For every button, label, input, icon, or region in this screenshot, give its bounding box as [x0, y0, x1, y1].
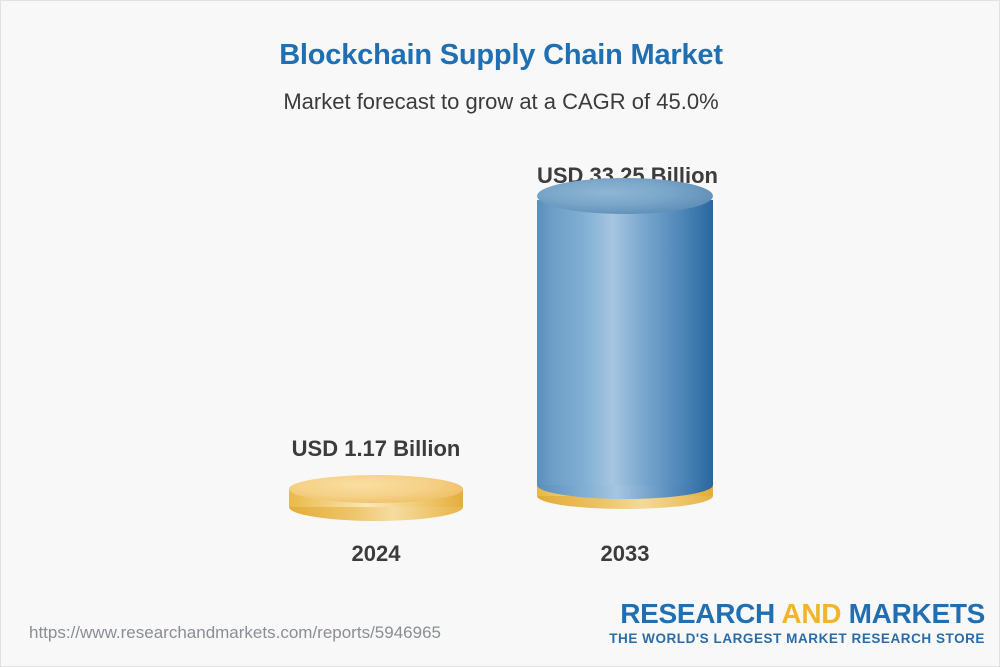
logo-word-markets: MARKETS — [849, 598, 985, 629]
bar-2024-top-cap — [289, 475, 463, 503]
source-url[interactable]: https://www.researchandmarkets.com/repor… — [29, 623, 441, 643]
bar-column-2033: USD 33.25 Billion 2033 — [537, 141, 713, 571]
logo-wordmark: RESEARCH AND MARKETS — [609, 599, 985, 628]
bar-shape-2033 — [537, 200, 713, 485]
bar-shape-2024 — [289, 475, 463, 521]
logo-word-research: RESEARCH — [620, 598, 775, 629]
research-and-markets-logo: RESEARCH AND MARKETS THE WORLD'S LARGEST… — [609, 599, 985, 646]
bar-2033-top-cap — [537, 178, 713, 214]
bar-column-2024: USD 1.17 Billion 2024 — [289, 281, 463, 571]
logo-word-and: AND — [781, 598, 841, 629]
chart-title: Blockchain Supply Chain Market — [1, 39, 1000, 72]
category-label-2024: 2024 — [289, 541, 463, 567]
bar-value-label-2024: USD 1.17 Billion — [289, 436, 463, 462]
logo-tagline: THE WORLD'S LARGEST MARKET RESEARCH STOR… — [609, 631, 985, 646]
category-label-2033: 2033 — [537, 541, 713, 567]
chart-subtitle: Market forecast to grow at a CAGR of 45.… — [1, 89, 1000, 115]
plot-area: USD 1.17 Billion 2024 USD 33.25 Billion … — [1, 141, 1000, 571]
chart-page: Blockchain Supply Chain Market Market fo… — [0, 0, 1000, 667]
